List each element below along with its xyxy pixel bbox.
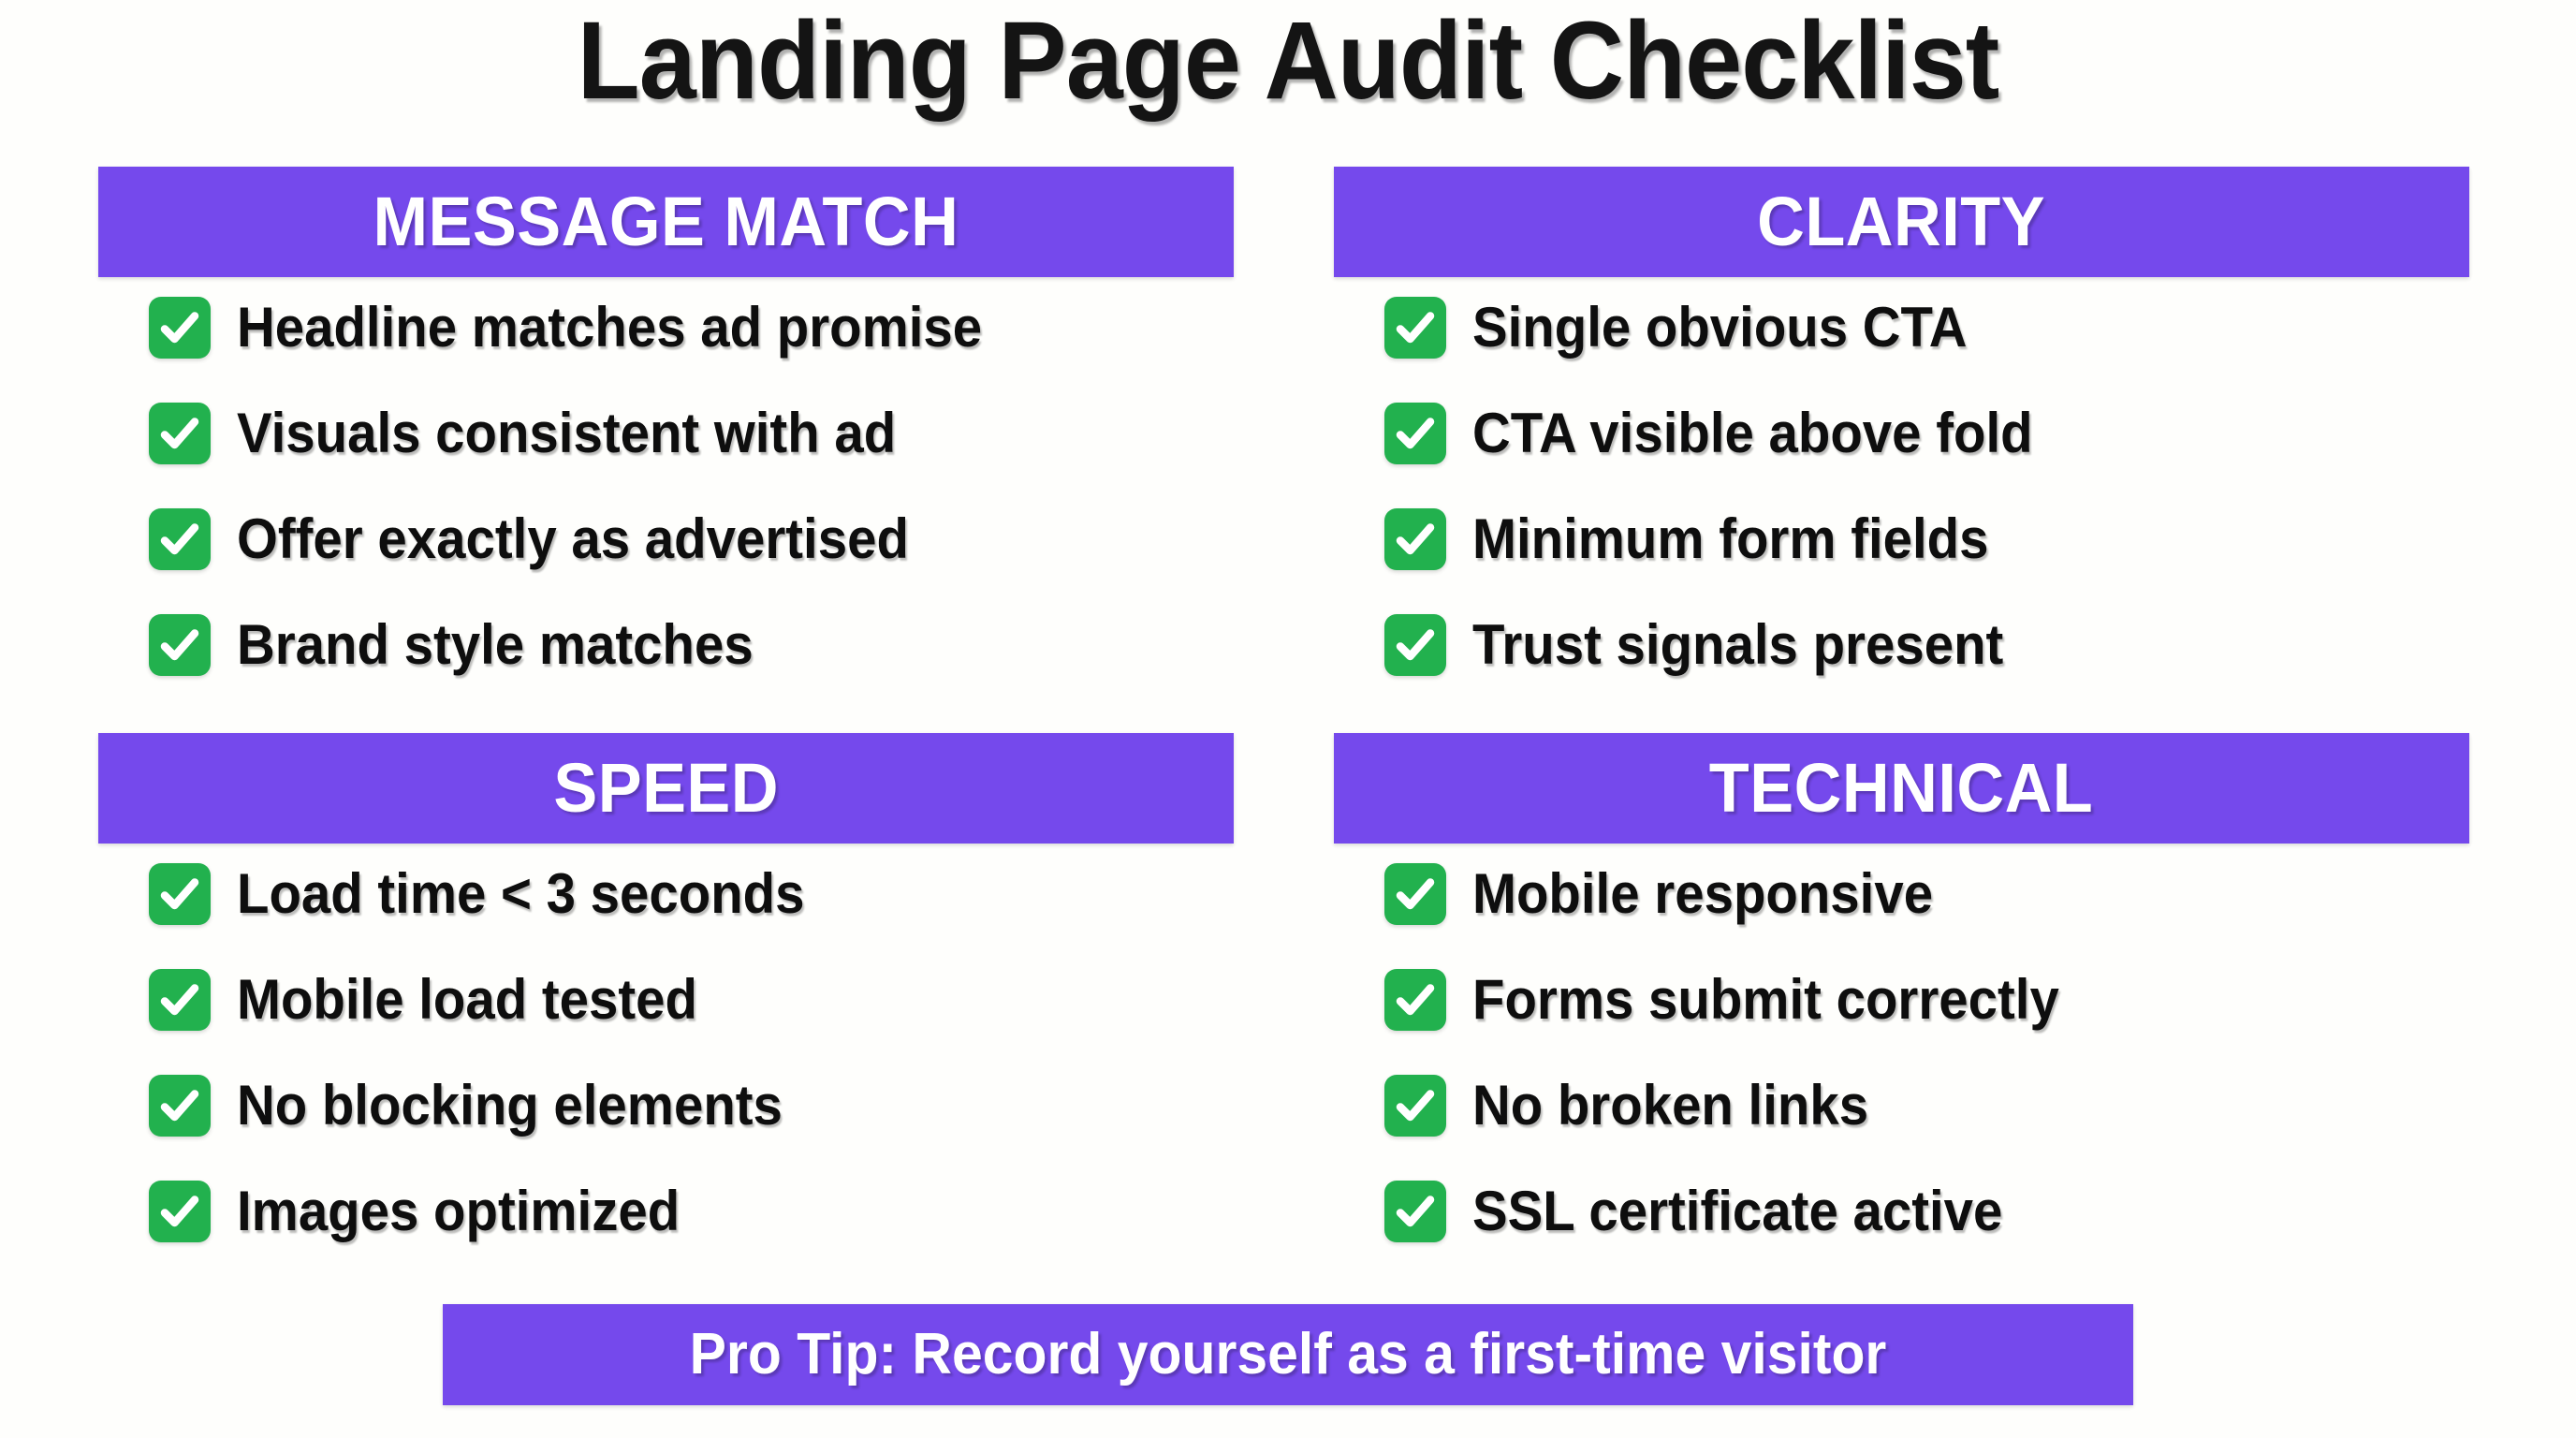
section-items-technical: Mobile responsive Forms submit correctly… (1334, 863, 2469, 1242)
list-item-label: No broken links (1472, 1075, 1868, 1137)
check-icon[interactable] (1384, 508, 1446, 570)
check-icon[interactable] (1384, 614, 1446, 676)
list-item[interactable]: No blocking elements (149, 1075, 1234, 1137)
pro-tip-text: Pro Tip: Record yourself as a first-time… (690, 1326, 1887, 1384)
check-icon[interactable] (1384, 1075, 1446, 1137)
section-title-clarity: CLARITY (1758, 187, 2046, 257)
list-item[interactable]: Visuals consistent with ad (149, 403, 1234, 464)
section-speed: SPEED Load time < 3 seconds Mobile load … (98, 733, 1234, 1242)
list-item-label: Mobile load tested (237, 969, 697, 1031)
list-item-label: Mobile responsive (1472, 863, 1933, 925)
check-icon[interactable] (149, 297, 211, 359)
list-item[interactable]: Single obvious CTA (1384, 297, 2469, 359)
list-item[interactable]: Mobile load tested (149, 969, 1234, 1031)
check-icon[interactable] (1384, 1181, 1446, 1242)
section-items-speed: Load time < 3 seconds Mobile load tested… (98, 863, 1234, 1242)
list-item-label: SSL certificate active (1472, 1181, 2002, 1242)
list-item[interactable]: Forms submit correctly (1384, 969, 2469, 1031)
list-item-label: Headline matches ad promise (237, 297, 982, 359)
list-item-label: Images optimized (237, 1181, 680, 1242)
list-item-label: Minimum form fields (1472, 508, 1989, 570)
list-item-label: Trust signals present (1472, 614, 2003, 676)
check-icon[interactable] (149, 1181, 211, 1242)
page-title: Landing Page Audit Checklist (90, 6, 2485, 116)
check-icon[interactable] (149, 614, 211, 676)
check-icon[interactable] (1384, 403, 1446, 464)
check-icon[interactable] (1384, 969, 1446, 1031)
section-message-match: MESSAGE MATCH Headline matches ad promis… (98, 167, 1234, 676)
list-item[interactable]: Images optimized (149, 1181, 1234, 1242)
section-header-message-match: MESSAGE MATCH (98, 167, 1234, 277)
check-icon[interactable] (1384, 297, 1446, 359)
list-item[interactable]: Headline matches ad promise (149, 297, 1234, 359)
sections-grid: MESSAGE MATCH Headline matches ad promis… (98, 167, 2469, 1262)
section-items-clarity: Single obvious CTA CTA visible above fol… (1334, 297, 2469, 676)
section-title-speed: SPEED (553, 754, 779, 823)
list-item[interactable]: No broken links (1384, 1075, 2469, 1137)
section-title-message-match: MESSAGE MATCH (373, 187, 959, 257)
list-item-label: Brand style matches (237, 614, 754, 676)
section-header-clarity: CLARITY (1334, 167, 2469, 277)
list-item-label: No blocking elements (237, 1075, 783, 1137)
list-item[interactable]: SSL certificate active (1384, 1181, 2469, 1242)
check-icon[interactable] (149, 1075, 211, 1137)
list-item[interactable]: CTA visible above fold (1384, 403, 2469, 464)
list-item[interactable]: Brand style matches (149, 614, 1234, 676)
list-item[interactable]: Mobile responsive (1384, 863, 2469, 925)
check-icon[interactable] (149, 863, 211, 925)
list-item-label: Offer exactly as advertised (237, 508, 909, 570)
list-item-label: Single obvious CTA (1472, 297, 1968, 359)
section-header-technical: TECHNICAL (1334, 733, 2469, 844)
section-technical: TECHNICAL Mobile responsive Forms submit… (1334, 733, 2469, 1242)
list-item[interactable]: Minimum form fields (1384, 508, 2469, 570)
section-items-message-match: Headline matches ad promise Visuals cons… (98, 297, 1234, 676)
list-item[interactable]: Trust signals present (1384, 614, 2469, 676)
list-item[interactable]: Offer exactly as advertised (149, 508, 1234, 570)
section-clarity: CLARITY Single obvious CTA CTA visible a… (1334, 167, 2469, 676)
check-icon[interactable] (149, 969, 211, 1031)
list-item[interactable]: Load time < 3 seconds (149, 863, 1234, 925)
section-title-technical: TECHNICAL (1709, 754, 2093, 823)
pro-tip-banner: Pro Tip: Record yourself as a first-time… (443, 1304, 2133, 1405)
list-item-label: Load time < 3 seconds (237, 863, 805, 925)
checklist-infographic: Landing Page Audit Checklist MESSAGE MAT… (0, 0, 2576, 1438)
list-item-label: CTA visible above fold (1472, 403, 2033, 464)
check-icon[interactable] (149, 403, 211, 464)
list-item-label: Forms submit correctly (1472, 969, 2059, 1031)
list-item-label: Visuals consistent with ad (237, 403, 896, 464)
check-icon[interactable] (1384, 863, 1446, 925)
section-header-speed: SPEED (98, 733, 1234, 844)
check-icon[interactable] (149, 508, 211, 570)
